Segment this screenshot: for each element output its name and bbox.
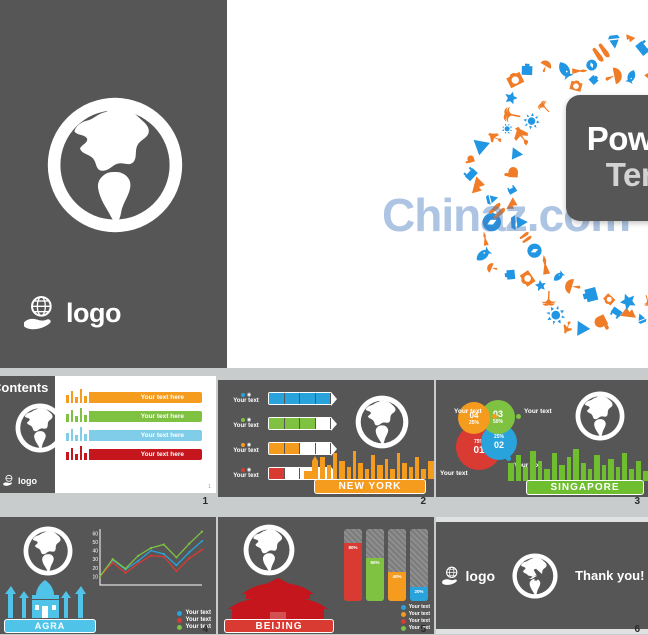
gauge-cell [269, 393, 285, 404]
legend-swatch [401, 612, 406, 617]
svg-text:20: 20 [92, 566, 98, 572]
bar-value-label: 40% [392, 574, 401, 579]
contents-bar[interactable]: Your text here [90, 449, 202, 460]
svg-text:30: 30 [92, 557, 98, 563]
status-dot [241, 468, 245, 472]
thumbnail-slide-6[interactable]: logo Thank you! 6 [436, 517, 648, 634]
gauge-cell [300, 418, 316, 429]
contents-bar[interactable]: Your text here [90, 411, 202, 422]
page-title: PowerPoint [587, 122, 648, 157]
slide2-city-label: NEW YORK [314, 479, 426, 494]
bubble-callout-dot [468, 463, 473, 468]
bar-column[interactable]: 20% [410, 529, 428, 601]
thumbnail-slide-2[interactable]: ◉Your text◉Your text◉Your text◉Your text… [218, 376, 434, 506]
legend-label: Your text [409, 625, 430, 631]
slide1-page-number: 1 [208, 484, 211, 490]
beijing-temple-icon [218, 578, 338, 620]
progress-row[interactable]: ◉Your text [224, 392, 332, 405]
slide4-city-label: AGRA [4, 619, 96, 633]
slide-number: 3 [634, 496, 640, 507]
bar-fill: 60% [366, 558, 384, 601]
gauge-cell [316, 418, 332, 429]
bar-chart: 80%60%40%20% [344, 529, 430, 601]
gauge-cell [300, 393, 316, 404]
slide-number: 6 [634, 624, 640, 635]
page-subtitle: Template [606, 156, 648, 194]
bubble-percent: 50% [493, 419, 503, 425]
bubble-name: 02 [494, 440, 504, 450]
progress-gauge [268, 392, 332, 405]
svg-text:50: 50 [92, 540, 98, 546]
globe-icon [354, 394, 410, 450]
legend-swatch [401, 605, 406, 610]
cover-logo-label: logo [66, 298, 121, 329]
bar-column[interactable]: 60% [366, 529, 384, 601]
legend-swatch [401, 619, 406, 624]
agra-skyline [64, 425, 98, 441]
cover-slide: logo Chinaz.com PowerPoint Template [0, 0, 648, 368]
bar-column[interactable]: 80% [344, 529, 362, 601]
legend-label: Your text [409, 618, 430, 624]
slide1-title: Contents [0, 380, 48, 395]
progress-row[interactable]: ◉Your text [224, 417, 332, 430]
legend-swatch [177, 618, 182, 623]
legend-item: Your text [401, 604, 430, 610]
beijing-skyline [64, 444, 98, 460]
bar-value-label: 80% [348, 545, 357, 550]
thumbnail-slide-4[interactable]: AGRA 102030405060 Your textYour textYour… [0, 517, 216, 634]
progress-row-label: Your text [224, 398, 268, 405]
bar-fill: 20% [410, 587, 428, 601]
gauge-cell [316, 393, 332, 404]
thumbnail-slide-5[interactable]: BEIJING 80%60%40%20% Your textYour textY… [218, 517, 434, 634]
bar-column[interactable]: 40% [388, 529, 406, 601]
cover-logo: logo [20, 293, 121, 333]
line-chart: 102030405060 [78, 523, 206, 599]
bubble-percent: 25% [469, 420, 479, 426]
legend-item: Your text [177, 610, 211, 616]
bubble-callout-label: Your text [524, 408, 552, 415]
slide-number: 2 [420, 496, 426, 507]
globe-icon [574, 390, 626, 442]
progress-gauge [268, 417, 332, 430]
slide-number: 1 [202, 496, 208, 507]
boat-icon [605, 28, 623, 51]
bar-value-label: 20% [414, 589, 423, 594]
slide6-top-bar [436, 517, 648, 522]
legend-swatch [401, 626, 406, 631]
slide1-logo-label: logo [18, 476, 37, 486]
status-dot [241, 418, 245, 422]
globe-icon [22, 525, 74, 577]
globe-in-hand-icon [440, 565, 462, 587]
legend-item: Your text [177, 617, 211, 623]
gauge-cell [269, 468, 285, 479]
svg-text:40: 40 [92, 549, 98, 555]
cover-title-card: PowerPoint Template [566, 95, 648, 221]
slide6-logo: logo [440, 565, 496, 587]
slide1-content: Your text hereYour text hereYour text he… [55, 376, 216, 493]
gauge-cell [285, 443, 301, 454]
contents-bar-label: Your text here [141, 451, 184, 458]
globe-icon [242, 523, 296, 577]
status-dot [241, 393, 245, 397]
slide6-bottom-bar [436, 629, 648, 634]
legend-label: Your text [409, 611, 430, 617]
contents-bar-label: Your text here [141, 432, 184, 439]
progress-row-label: Your text [224, 473, 268, 480]
gauge-arrow [331, 392, 337, 406]
gauge-cell [285, 468, 301, 479]
cover-left-panel: logo [0, 0, 227, 368]
slide6-logo-label: logo [466, 568, 496, 584]
slide1-left-panel: Contents logo [0, 376, 55, 493]
svg-text:10: 10 [92, 574, 98, 580]
globe-in-hand-icon [20, 293, 60, 333]
bubble-callout-dot [516, 414, 521, 419]
gauge-cell [269, 443, 285, 454]
gauge-cell [285, 393, 301, 404]
legend-item: Your text [401, 611, 430, 617]
contents-bar-label: Your text here [141, 413, 184, 420]
globe-icon [45, 95, 185, 235]
bubble-callout-label: Your text [440, 470, 468, 477]
bar-fill: 40% [388, 572, 406, 601]
contents-bar-label: Your text here [141, 394, 184, 401]
globe-plane-icon [511, 552, 559, 600]
slide-number: 4 [202, 624, 208, 635]
progress-row-label: Your text [224, 423, 268, 430]
contents-bar[interactable]: Your text here [90, 430, 202, 441]
legend-label: Your text [409, 604, 430, 610]
thumbnail-slide-3[interactable]: 75%0125%020350%0425%Your textYour textYo… [436, 376, 648, 506]
status-dot [241, 443, 245, 447]
palm-icon [639, 288, 648, 309]
gauge-arrow [331, 417, 337, 431]
bubble-04[interactable]: 0425% [458, 402, 490, 434]
svg-text:60: 60 [92, 531, 98, 537]
bar-fill: 80% [344, 543, 362, 601]
slide3-city-label: SINGAPORE [526, 480, 644, 495]
thumbnail-slide-1[interactable]: Contents logo Your text her [0, 376, 216, 506]
bubble-callout-label: Your text [454, 408, 482, 415]
legend-label: Your text [185, 617, 211, 623]
slide1-logo: logo [2, 474, 37, 487]
contents-bar[interactable]: Your text here [90, 392, 202, 403]
legend-swatch [177, 625, 182, 630]
taj-mahal-icon [2, 578, 88, 618]
slide5-city-label: BEIJING [224, 619, 334, 633]
singapore-skyline [64, 406, 98, 422]
slide6-thank-you: Thank you! [575, 568, 644, 583]
singapore-skyline [508, 441, 648, 481]
new-york-skyline [304, 443, 434, 479]
legend-swatch [177, 611, 182, 616]
new-york-skyline [64, 387, 98, 403]
globe-in-hand-icon [2, 474, 15, 487]
bubble-callout-dot [492, 414, 497, 419]
gauge-cell [269, 418, 285, 429]
progress-row-label: Your text [224, 448, 268, 455]
legend-label: Your text [185, 610, 211, 616]
slide-number: 5 [420, 624, 426, 635]
bar-value-label: 60% [370, 560, 379, 565]
gauge-cell [285, 418, 301, 429]
cover-right-panel: Chinaz.com PowerPoint Template [227, 0, 648, 368]
